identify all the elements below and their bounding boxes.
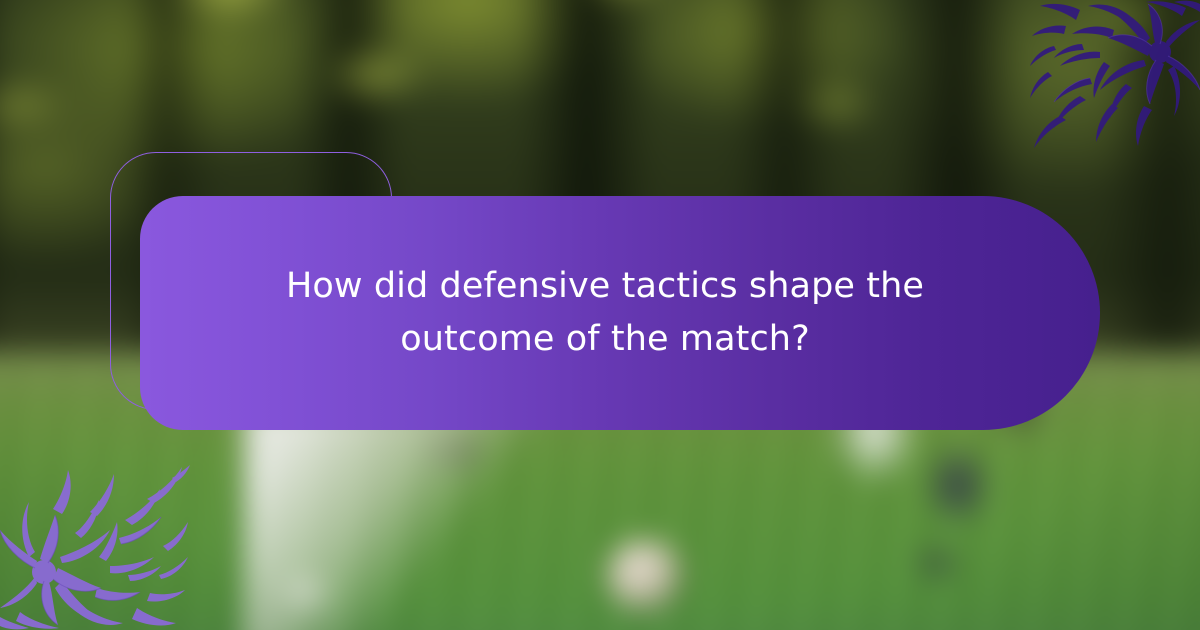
question-card: How did defensive tactics shape the outc… xyxy=(140,196,1100,430)
question-text: How did defensive tactics shape the outc… xyxy=(210,260,1000,366)
social-card-canvas: How did defensive tactics shape the outc… xyxy=(0,0,1200,630)
